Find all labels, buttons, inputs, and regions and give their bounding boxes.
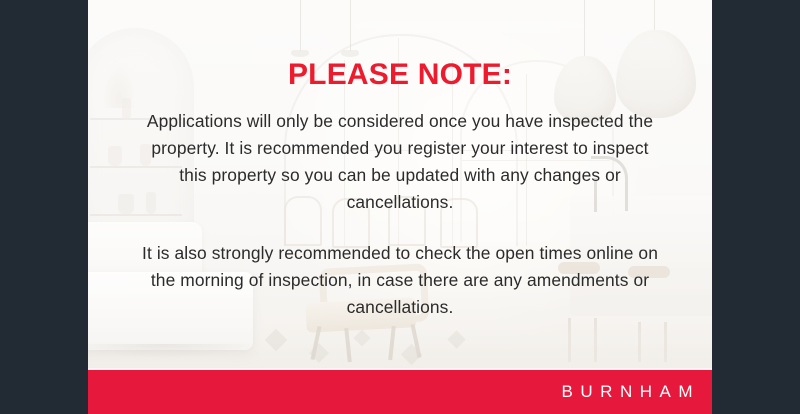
notice-paragraph-2: It is also strongly recommended to check… <box>140 240 660 321</box>
notice-slide: PLEASE NOTE: Applications will only be c… <box>88 0 712 414</box>
page-title: PLEASE NOTE: <box>114 58 686 91</box>
notice-content: PLEASE NOTE: Applications will only be c… <box>88 0 712 321</box>
letterbox-bar-right <box>712 0 800 414</box>
letterbox-bar-left <box>0 0 88 414</box>
notice-paragraph-1: Applications will only be considered onc… <box>140 108 660 216</box>
screenshot-root: PLEASE NOTE: Applications will only be c… <box>0 0 800 414</box>
footer-brand-band: BURNHAM <box>88 370 712 414</box>
brand-logo-wordmark: BURNHAM <box>554 382 700 402</box>
